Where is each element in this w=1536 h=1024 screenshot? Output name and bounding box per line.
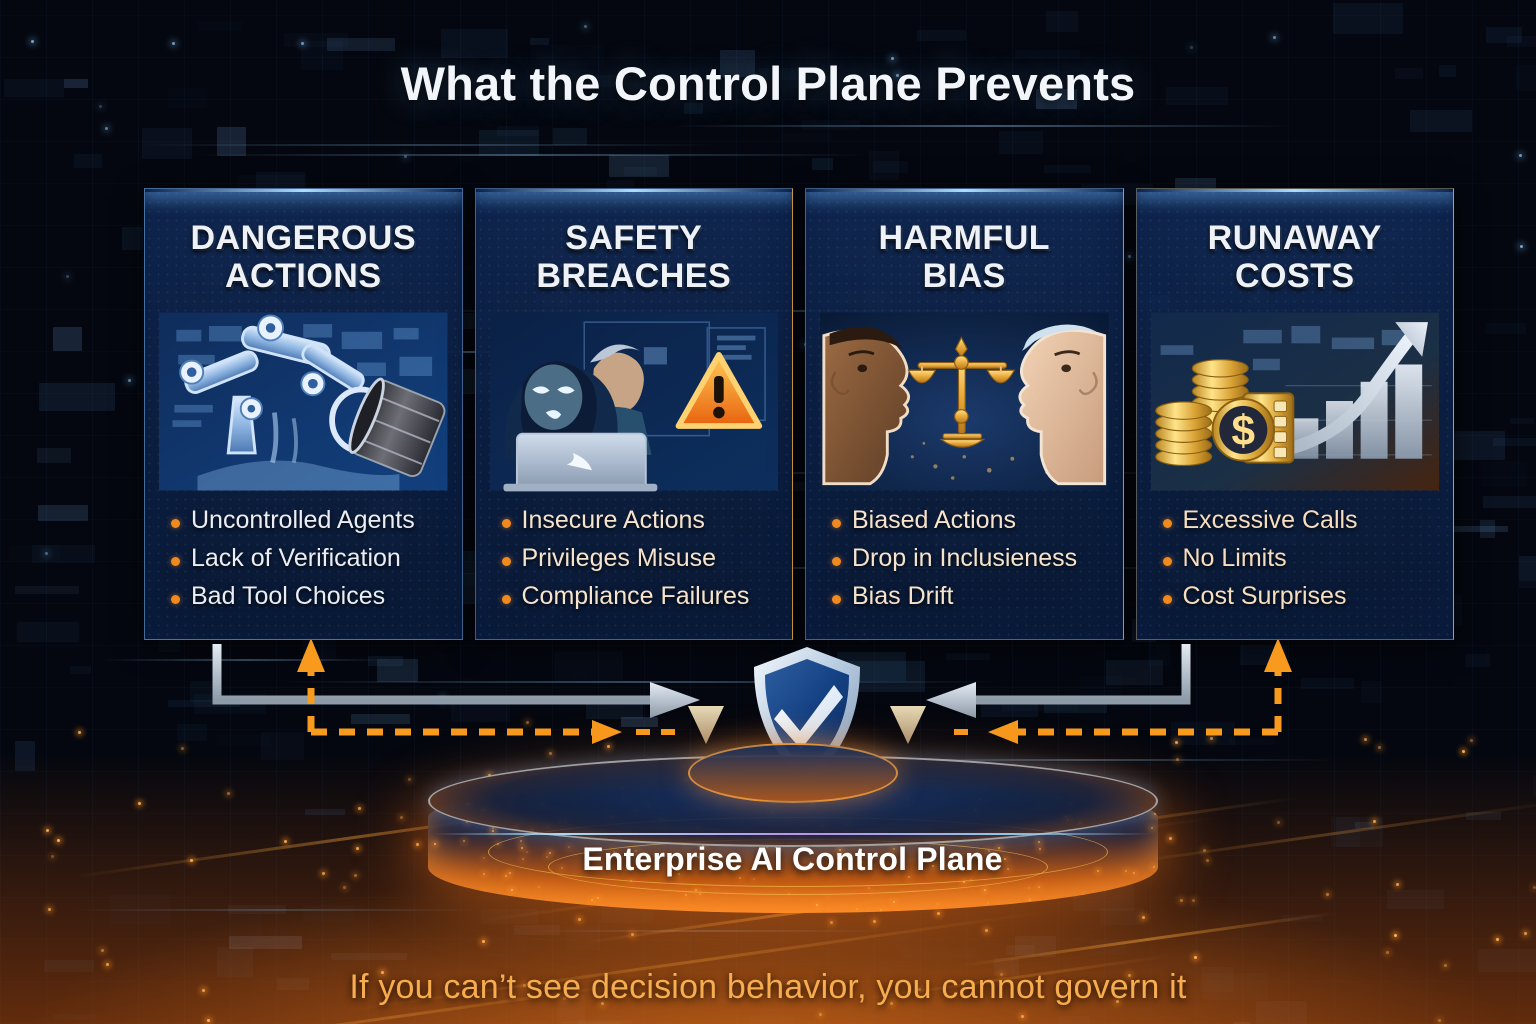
- platform-glow-line: [434, 833, 1152, 835]
- arrowhead-up: [1264, 640, 1292, 672]
- bullet-text: Lack of Verification: [191, 544, 401, 573]
- bullet-text: Drop in Inclusieness: [852, 544, 1077, 573]
- card-title-harmful-bias: HARMFUL BIAS: [806, 219, 1123, 295]
- platform-label: Enterprise AI Control Plane: [420, 841, 1165, 878]
- arrowhead-down: [890, 706, 926, 744]
- card-title-line1: HARMFUL: [806, 219, 1123, 257]
- two-profiles-scales-icon: [820, 309, 1109, 494]
- footer-caption: If you can’t see decision behavior, you …: [0, 968, 1536, 1007]
- bullet-dot-icon: [832, 595, 841, 604]
- bullet-text: Uncontrolled Agents: [191, 506, 415, 535]
- arrow-right-to-shield: [217, 644, 660, 700]
- arrowhead-left: [988, 720, 1018, 744]
- card-title-dangerous-actions: DANGEROUS ACTIONS: [145, 219, 462, 295]
- card-title-line1: RUNAWAY: [1137, 219, 1454, 257]
- bullet-text: Bad Tool Choices: [191, 582, 385, 611]
- bullet-text: Compliance Failures: [522, 582, 750, 611]
- bullet-dot-icon: [502, 557, 511, 566]
- svg-text:$: $: [1231, 407, 1255, 454]
- infographic-canvas: What the Control Plane Prevents DANGEROU…: [0, 0, 1536, 1024]
- card-harmful-bias[interactable]: HARMFUL BIAS: [805, 188, 1124, 640]
- card-bullets-harmful-bias: Biased Actions Drop in Inclusieness Bias…: [832, 506, 1123, 611]
- arrowhead-left: [926, 682, 976, 718]
- page-title: What the Control Plane Prevents: [0, 56, 1536, 111]
- bullet-dot-icon: [171, 595, 180, 604]
- coins-rising-chart-icon: $: [1151, 309, 1440, 494]
- arrowhead-down: [688, 706, 724, 744]
- list-item: Cost Surprises: [1163, 582, 1454, 611]
- card-art-dangerous-actions: [159, 309, 448, 494]
- arrowhead-up: [297, 640, 325, 672]
- platform-pedestal: [688, 743, 898, 803]
- list-item: No Limits: [1163, 544, 1454, 573]
- list-item: Drop in Inclusieness: [832, 544, 1123, 573]
- card-safety-breaches[interactable]: SAFETY BREACHES: [475, 188, 794, 640]
- list-item: Bias Drift: [832, 582, 1123, 611]
- card-title-runaway-costs: RUNAWAY COSTS: [1137, 219, 1454, 295]
- bullet-dot-icon: [832, 557, 841, 566]
- bullet-text: No Limits: [1183, 544, 1287, 573]
- card-art-harmful-bias: [820, 309, 1109, 494]
- card-title-line2: ACTIONS: [145, 257, 462, 295]
- control-plane-platform: Enterprise AI Control Plane: [420, 745, 1165, 950]
- bullet-text: Biased Actions: [852, 506, 1016, 535]
- list-item: Privileges Misuse: [502, 544, 793, 573]
- bullet-dot-icon: [502, 595, 511, 604]
- list-item: Lack of Verification: [171, 544, 462, 573]
- bullet-text: Cost Surprises: [1183, 582, 1347, 611]
- bullet-dot-icon: [502, 519, 511, 528]
- list-item: Bad Tool Choices: [171, 582, 462, 611]
- list-item: Insecure Actions: [502, 506, 793, 535]
- card-title-line1: SAFETY: [476, 219, 793, 257]
- bullet-dot-icon: [171, 557, 180, 566]
- list-item: Compliance Failures: [502, 582, 793, 611]
- card-runaway-costs[interactable]: RUNAWAY COSTS: [1136, 188, 1455, 640]
- bullet-dot-icon: [832, 519, 841, 528]
- bullet-dot-icon: [1163, 557, 1172, 566]
- bullet-text: Privileges Misuse: [522, 544, 717, 573]
- card-art-runaway-costs: $: [1151, 309, 1440, 494]
- bullet-text: Insecure Actions: [522, 506, 705, 535]
- card-bullets-dangerous-actions: Uncontrolled Agents Lack of Verification…: [171, 506, 462, 611]
- card-title-line2: BIAS: [806, 257, 1123, 295]
- card-title-line2: BREACHES: [476, 257, 793, 295]
- bullet-dot-icon: [1163, 519, 1172, 528]
- card-title-safety-breaches: SAFETY BREACHES: [476, 219, 793, 295]
- list-item: Biased Actions: [832, 506, 1123, 535]
- card-bullets-safety-breaches: Insecure Actions Privileges Misuse Compl…: [502, 506, 793, 611]
- bullet-text: Excessive Calls: [1183, 506, 1358, 535]
- bullet-text: Bias Drift: [852, 582, 953, 611]
- card-bullets-runaway-costs: Excessive Calls No Limits Cost Surprises: [1163, 506, 1454, 611]
- arrowhead-right: [592, 720, 622, 744]
- robotic-arm-spill-icon: [159, 309, 448, 494]
- risk-cards-row: DANGEROUS ACTIONS: [144, 188, 1454, 640]
- card-title-line1: DANGEROUS: [145, 219, 462, 257]
- card-title-line2: COSTS: [1137, 257, 1454, 295]
- card-dangerous-actions[interactable]: DANGEROUS ACTIONS: [144, 188, 463, 640]
- list-item: Uncontrolled Agents: [171, 506, 462, 535]
- card-art-safety-breaches: [490, 309, 779, 494]
- list-item: Excessive Calls: [1163, 506, 1454, 535]
- bullet-dot-icon: [1163, 595, 1172, 604]
- bullet-dot-icon: [171, 519, 180, 528]
- arrow-left-to-shield: [966, 644, 1186, 700]
- hooded-hacker-warning-icon: [490, 309, 779, 494]
